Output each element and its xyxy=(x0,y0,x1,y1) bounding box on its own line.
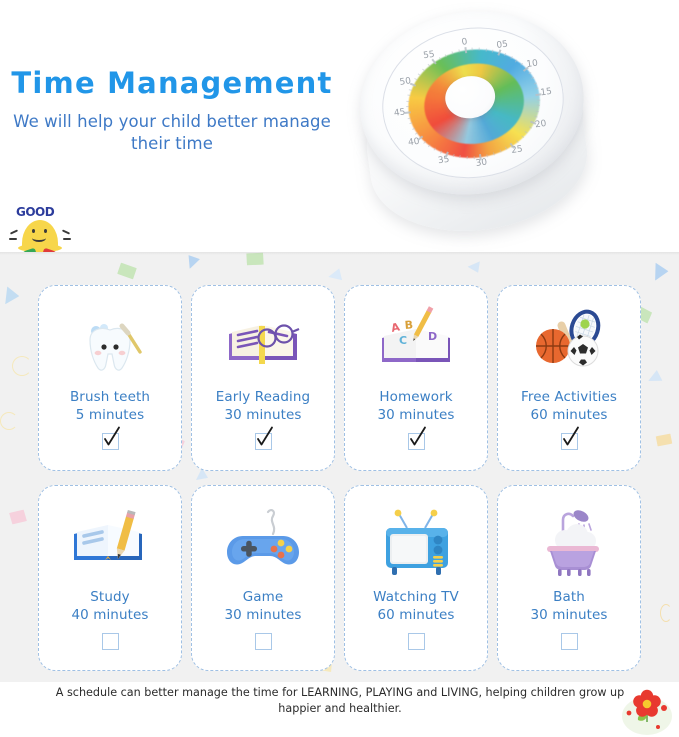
activity-card[interactable]: Free Activities60 minutes xyxy=(497,285,641,471)
activity-duration: 5 minutes xyxy=(76,406,144,424)
activity-checkbox-checked[interactable] xyxy=(561,433,578,450)
open-book-glasses-icon xyxy=(219,304,307,382)
activity-checkbox-unchecked[interactable] xyxy=(255,633,272,650)
hero-section: Time Management We will help your child … xyxy=(0,0,679,252)
activity-title: Study xyxy=(90,588,129,606)
timer-tick xyxy=(464,47,466,53)
activity-card[interactable]: Brush teeth5 minutes xyxy=(38,285,182,471)
timer-tick xyxy=(473,156,474,159)
promo-page: Time Management We will help your child … xyxy=(0,0,679,737)
activity-duration: 30 minutes xyxy=(224,406,301,424)
timer-tick xyxy=(409,89,412,91)
panel-top-shadow xyxy=(0,252,679,255)
timer-device[interactable]: 00510152025303540455055 xyxy=(346,4,646,252)
open-book-glasses-icon xyxy=(219,304,307,382)
timer-tick xyxy=(440,150,442,153)
book-pencil-icon xyxy=(66,504,154,582)
timer-tick xyxy=(458,49,460,52)
confetti-piece xyxy=(468,258,485,275)
activity-title: Game xyxy=(243,588,284,606)
mascot-spark-right2 xyxy=(63,238,71,240)
activity-title: Early Reading xyxy=(216,388,310,406)
svg-text:C: C xyxy=(399,334,407,347)
timer-tick xyxy=(466,156,467,159)
sports-balls-icon xyxy=(525,304,613,382)
activity-title: Bath xyxy=(553,588,585,606)
timer-tick xyxy=(445,54,447,57)
timer-dial-face[interactable]: 00510152025303540455055 xyxy=(372,16,573,190)
timer-dial-number-50: 50 xyxy=(399,76,412,87)
confetti-piece xyxy=(12,356,32,376)
activity-duration: 30 minutes xyxy=(377,406,454,424)
activity-card[interactable]: Study40 minutes xyxy=(38,485,182,671)
activity-checkbox-unchecked[interactable] xyxy=(561,633,578,650)
game-controller-icon xyxy=(219,504,307,582)
mascot-eye-right xyxy=(44,229,47,233)
activity-checkbox-unchecked[interactable] xyxy=(102,633,119,650)
confetti-piece xyxy=(660,604,672,622)
bathtub-icon xyxy=(525,504,613,582)
confetti-piece xyxy=(0,284,20,305)
game-controller-icon xyxy=(219,504,307,582)
svg-text:A: A xyxy=(390,320,402,335)
confetti-piece xyxy=(117,262,138,279)
svg-text:B: B xyxy=(404,318,413,332)
timer-tick xyxy=(537,99,540,100)
checkmark-icon xyxy=(102,425,124,449)
timer-tick xyxy=(536,110,539,112)
bathtub-icon xyxy=(525,504,613,582)
confetti-piece xyxy=(328,266,345,282)
page-subtitle: We will help your child better manage th… xyxy=(8,111,336,155)
timer-tick xyxy=(452,154,454,157)
activity-duration: 60 minutes xyxy=(530,406,607,424)
timer-dial-number-05: 05 xyxy=(496,40,509,51)
activity-card[interactable]: A B C D Homework30 minutes xyxy=(344,285,488,471)
checkmark-icon xyxy=(255,425,277,449)
tooth-icon xyxy=(66,304,154,382)
footer-section: A schedule can better manage the time fo… xyxy=(0,682,679,737)
activity-checkbox-checked[interactable] xyxy=(408,433,425,450)
timer-tick xyxy=(407,117,410,119)
television-icon xyxy=(372,504,460,582)
television-icon xyxy=(372,504,460,582)
confetti-piece xyxy=(655,432,674,448)
activity-duration: 60 minutes xyxy=(377,606,454,624)
abc-book-pencil-icon: A B C D xyxy=(372,304,460,382)
confetti-piece xyxy=(0,412,18,430)
timer-tick xyxy=(406,101,409,102)
activity-title: Homework xyxy=(379,388,452,406)
book-pencil-icon xyxy=(66,504,154,582)
tooth-icon xyxy=(66,304,154,382)
activity-card-grid: Brush teeth5 minutes xyxy=(38,285,642,671)
mascot-eye-left xyxy=(32,229,35,233)
schedule-panel: Brush teeth5 minutes xyxy=(0,252,679,682)
activity-card[interactable]: Bath30 minutes xyxy=(497,485,641,671)
mascot-spark-left xyxy=(10,229,18,234)
timer-tick xyxy=(451,51,453,54)
checkmark-icon xyxy=(561,425,583,449)
footer-caption: A schedule can better manage the time fo… xyxy=(40,685,640,717)
activity-card[interactable]: Watching TV60 minutes xyxy=(344,485,488,671)
activity-title: Brush teeth xyxy=(70,388,150,406)
activity-title: Watching TV xyxy=(373,588,459,606)
timer-tick xyxy=(414,78,417,80)
checkmark-icon xyxy=(408,425,430,449)
hero-text-block: Time Management We will help your child … xyxy=(8,68,336,155)
timer-tick xyxy=(485,48,487,51)
mascot-mouth xyxy=(32,234,46,242)
red-flower-icon xyxy=(617,686,673,736)
timer-dial-number-35: 35 xyxy=(437,155,450,166)
abc-book-pencil-icon: A B C D xyxy=(372,304,460,382)
timer-dial-ticks: 00510152025303540455055 xyxy=(372,16,552,41)
activity-title: Free Activities xyxy=(521,388,617,406)
activity-card[interactable]: Early Reading30 minutes xyxy=(191,285,335,471)
mascot-spark-left2 xyxy=(9,238,17,240)
svg-text:D: D xyxy=(428,330,437,343)
confetti-piece xyxy=(8,508,28,527)
mascot-spark-right xyxy=(62,229,70,234)
bell-mascot: GOOD xyxy=(8,205,80,252)
activity-checkbox-unchecked[interactable] xyxy=(408,633,425,650)
timer-dial-number-15: 15 xyxy=(540,87,553,98)
activity-duration: 40 minutes xyxy=(71,606,148,624)
activity-card[interactable]: Game30 minutes xyxy=(191,485,335,671)
sports-balls-icon xyxy=(525,304,613,382)
confetti-piece xyxy=(648,259,669,280)
activity-duration: 30 minutes xyxy=(530,606,607,624)
activity-checkbox-checked[interactable] xyxy=(255,433,272,450)
timer-dial-number-20: 20 xyxy=(534,118,547,129)
activity-duration: 30 minutes xyxy=(224,606,301,624)
page-title: Time Management xyxy=(8,68,336,100)
activity-checkbox-checked[interactable] xyxy=(102,433,119,450)
confetti-piece xyxy=(648,369,664,383)
mascot-good-badge: GOOD xyxy=(16,205,54,219)
